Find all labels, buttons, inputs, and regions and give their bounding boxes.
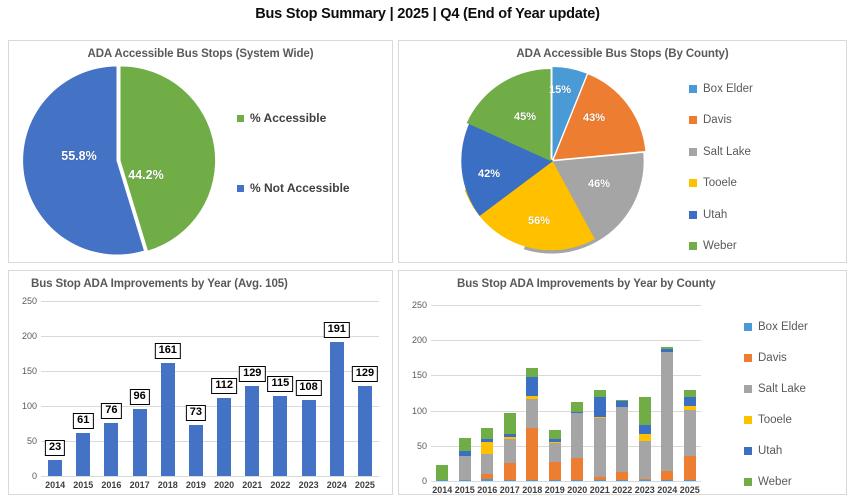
pie-svg-system-wide [21, 63, 216, 258]
panel-improvements-by-county: Bus Stop ADA Improvements by Year by Cou… [398, 270, 847, 495]
gridline [41, 301, 379, 302]
legend-item-davis[interactable]: Davis [689, 105, 753, 137]
stacked-bar-2017[interactable] [504, 305, 516, 481]
legend-swatch-bar-davis [744, 354, 752, 362]
legend-label-bar-weber: Weber [758, 476, 792, 488]
dashboard-title: Bus Stop Summary | 2025 | Q4 (End of Yea… [0, 6, 855, 22]
stack-segment-weber[interactable] [639, 397, 651, 426]
stacked-bar-2019[interactable] [549, 305, 561, 481]
x-axis-tick-label-2025: 2025 [674, 485, 706, 495]
chart-title-improvements-by-year: Bus Stop ADA Improvements by Year (Avg. … [9, 278, 414, 290]
legend-swatch-davis [689, 116, 697, 124]
stack-segment-salt-lake[interactable] [459, 456, 471, 480]
stack-segment-tooele[interactable] [594, 417, 606, 418]
y-axis-tick-label: 150 [402, 370, 427, 380]
legend-swatch-bar-salt-lake [744, 385, 752, 393]
stack-segment-tooele[interactable] [504, 437, 516, 440]
stack-segment-weber[interactable] [504, 413, 516, 433]
stack-segment-salt-lake[interactable] [504, 439, 516, 463]
bar-2014[interactable] [48, 460, 62, 476]
pie-label-box-elder: 15% [549, 84, 571, 96]
legend-item-salt-lake[interactable]: Salt Lake [689, 136, 753, 168]
bar-data-label-2020: 112 [211, 378, 237, 394]
stack-segment-utah[interactable] [616, 401, 628, 407]
legend-label-not-accessible: % Not Accessible [250, 181, 350, 195]
stack-segment-salt-lake[interactable] [549, 443, 561, 462]
stack-segment-utah[interactable] [639, 425, 651, 433]
bar-data-label-2024: 191 [324, 322, 350, 338]
stack-segment-box-elder[interactable] [616, 480, 628, 481]
stack-segment-davis[interactable] [549, 462, 561, 480]
legend-item-not-accessible[interactable]: % Not Accessible [237, 181, 350, 195]
bar-2024[interactable] [330, 342, 344, 476]
stack-segment-utah[interactable] [684, 397, 696, 406]
stack-segment-utah[interactable] [504, 434, 516, 437]
y-axis-tick-label: 0 [11, 471, 37, 481]
legend-swatch-bar-box-elder [744, 323, 752, 331]
stack-segment-davis[interactable] [526, 428, 538, 480]
stacked-bar-2016[interactable] [481, 305, 493, 481]
legend-swatch-weber [689, 242, 697, 250]
stack-segment-weber[interactable] [549, 430, 561, 440]
bar-data-label-2019: 73 [186, 405, 206, 421]
pie-label-not-accessible: 55.8% [61, 149, 96, 163]
y-axis-tick-label: 200 [11, 331, 37, 341]
y-axis-tick-label: 50 [402, 441, 427, 451]
legend-label-bar-salt-lake: Salt Lake [758, 383, 806, 395]
bar-data-label-2016: 76 [101, 403, 121, 419]
pie-label-salt-lake: 46% [588, 178, 610, 190]
legend-swatch-bar-weber [744, 478, 752, 486]
gridline [41, 476, 379, 477]
pie-label-davis: 43% [583, 112, 605, 124]
stack-segment-weber[interactable] [526, 368, 538, 377]
pie-label-tooele: 56% [528, 215, 550, 227]
stacked-bar-2014[interactable] [436, 305, 448, 481]
stack-segment-salt-lake[interactable] [616, 407, 628, 472]
bar-data-label-2021: 129 [239, 366, 265, 382]
stack-segment-tooele[interactable] [549, 442, 561, 443]
bar-2023[interactable] [302, 400, 316, 476]
stack-segment-weber[interactable] [571, 402, 583, 412]
pie-label-utah: 42% [478, 168, 500, 180]
chart-title-ada-by-county: ADA Accessible Bus Stops (By County) [399, 48, 846, 60]
pie-chart-ada-by-county: 15% 43% 46% 56% 42% 45% [457, 65, 647, 255]
legend-item-bar-utah[interactable]: Utah [744, 435, 808, 466]
bar-2018[interactable] [161, 363, 175, 476]
stack-segment-tooele[interactable] [639, 434, 651, 441]
legend-item-accessible[interactable]: % Accessible [237, 111, 350, 125]
y-axis-tick-label: 0 [402, 476, 427, 486]
y-axis-tick-label: 50 [11, 436, 37, 446]
legend-item-bar-tooele[interactable]: Tooele [744, 404, 808, 435]
stack-segment-salt-lake[interactable] [526, 399, 538, 429]
stack-segment-salt-lake[interactable] [571, 413, 583, 458]
legend-improvements-by-county: Box Elder Davis Salt Lake Tooele Utah We… [744, 311, 808, 497]
stack-segment-weber[interactable] [481, 428, 493, 440]
stack-segment-utah[interactable] [526, 377, 538, 396]
stack-segment-weber[interactable] [661, 347, 673, 349]
stack-segment-davis[interactable] [571, 458, 583, 480]
legend-swatch-utah [689, 211, 697, 219]
bar-data-label-2015: 61 [73, 413, 93, 429]
x-axis-tick-label-2025: 2025 [348, 480, 382, 490]
y-axis-tick-label: 200 [402, 335, 427, 345]
stack-segment-weber[interactable] [459, 438, 471, 451]
gridline [41, 371, 379, 372]
stacked-bar-2024[interactable] [661, 305, 673, 481]
legend-label-tooele: Tooele [703, 177, 737, 189]
gridline [431, 481, 701, 482]
bar-2019[interactable] [189, 425, 203, 476]
legend-swatch-not-accessible [237, 185, 244, 192]
legend-label-accessible: % Accessible [250, 111, 326, 125]
stack-segment-box-elder[interactable] [481, 479, 493, 481]
stack-segment-salt-lake[interactable] [481, 454, 493, 474]
stack-segment-davis[interactable] [616, 472, 628, 480]
panel-improvements-by-year: Bus Stop ADA Improvements by Year (Avg. … [8, 270, 393, 495]
legend-item-tooele[interactable]: Tooele [689, 168, 753, 200]
pie-label-accessible: 44.2% [128, 168, 163, 182]
stacked-bar-2021[interactable] [594, 305, 606, 481]
plot-area-improvements-by-county: 0501001502002502014201520162017201820192… [431, 305, 701, 481]
stack-segment-weber[interactable] [616, 400, 628, 401]
legend-item-box-elder[interactable]: Box Elder [689, 73, 753, 105]
bar-2017[interactable] [133, 409, 147, 476]
stack-segment-box-elder[interactable] [639, 480, 651, 481]
pie-chart-ada-system-wide: 44.2% 55.8% [21, 63, 216, 258]
plot-area-improvements-by-year: 0501001502002502320146120157620169620171… [41, 301, 379, 476]
y-axis-tick-label: 100 [402, 406, 427, 416]
stacked-bar-2023[interactable] [639, 305, 651, 481]
stack-segment-box-elder[interactable] [571, 480, 583, 481]
legend-item-utah[interactable]: Utah [689, 199, 753, 231]
stack-segment-salt-lake[interactable] [684, 410, 696, 456]
stack-segment-davis[interactable] [639, 479, 651, 480]
stack-segment-box-elder[interactable] [549, 480, 561, 481]
legend-label-utah: Utah [703, 209, 727, 221]
stack-segment-salt-lake[interactable] [661, 352, 673, 471]
bar-2015[interactable] [76, 433, 90, 476]
stacked-bar-2022[interactable] [616, 305, 628, 481]
legend-ada-by-county: Box Elder Davis Salt Lake Tooele Utah We… [689, 73, 753, 262]
stack-segment-tooele[interactable] [481, 442, 493, 455]
stack-segment-davis[interactable] [481, 474, 493, 479]
stack-segment-tooele[interactable] [684, 406, 696, 410]
stack-segment-utah[interactable] [661, 349, 673, 353]
panel-ada-system-wide: ADA Accessible Bus Stops (System Wide) 4… [8, 40, 393, 263]
stack-segment-davis[interactable] [661, 471, 673, 480]
bar-2020[interactable] [217, 398, 231, 476]
stack-segment-tooele[interactable] [526, 396, 538, 399]
legend-item-bar-box-elder[interactable]: Box Elder [744, 311, 808, 342]
gridline [41, 441, 379, 442]
y-axis-tick-label: 250 [402, 300, 427, 310]
bar-data-label-2025: 129 [352, 366, 378, 382]
stacked-bar-2025[interactable] [684, 305, 696, 481]
bar-2016[interactable] [104, 423, 118, 476]
legend-swatch-box-elder [689, 85, 697, 93]
stack-segment-utah[interactable] [481, 439, 493, 441]
legend-label-salt-lake: Salt Lake [703, 146, 751, 158]
stacked-bar-2018[interactable] [526, 305, 538, 481]
bar-data-label-2018: 161 [155, 343, 181, 359]
legend-item-bar-salt-lake[interactable]: Salt Lake [744, 373, 808, 404]
bar-2021[interactable] [245, 386, 259, 476]
legend-swatch-bar-tooele [744, 416, 752, 424]
chart-title-improvements-by-county: Bus Stop ADA Improvements by Year by Cou… [399, 278, 855, 290]
legend-swatch-tooele [689, 179, 697, 187]
stack-segment-box-elder[interactable] [684, 480, 696, 481]
legend-label-bar-box-elder: Box Elder [758, 321, 808, 333]
stack-segment-weber[interactable] [594, 390, 606, 396]
bar-data-label-2022: 115 [268, 376, 294, 392]
y-axis-tick-label: 250 [11, 296, 37, 306]
stack-segment-utah[interactable] [459, 451, 471, 457]
stack-segment-davis[interactable] [684, 456, 696, 480]
stack-segment-box-elder[interactable] [526, 480, 538, 481]
stack-segment-weber[interactable] [436, 465, 448, 480]
stacked-bar-2015[interactable] [459, 305, 471, 481]
stack-segment-utah[interactable] [549, 439, 561, 441]
legend-swatch-bar-utah [744, 447, 752, 455]
legend-swatch-salt-lake [689, 148, 697, 156]
panel-ada-by-county: ADA Accessible Bus Stops (By County) 15%… [398, 40, 847, 263]
stack-segment-box-elder[interactable] [436, 480, 448, 481]
stack-segment-weber[interactable] [684, 390, 696, 397]
stack-segment-salt-lake[interactable] [639, 441, 651, 479]
stack-segment-box-elder[interactable] [459, 480, 471, 481]
gridline [41, 406, 379, 407]
stack-segment-box-elder[interactable] [504, 480, 516, 481]
legend-label-box-elder: Box Elder [703, 83, 753, 95]
stack-segment-davis[interactable] [594, 477, 606, 480]
legend-label-bar-tooele: Tooele [758, 414, 792, 426]
stacked-bar-2020[interactable] [571, 305, 583, 481]
y-axis-tick-label: 100 [11, 401, 37, 411]
legend-label-bar-utah: Utah [758, 445, 782, 457]
legend-label-davis: Davis [703, 114, 732, 126]
stack-segment-utah[interactable] [594, 397, 606, 417]
legend-label-bar-davis: Davis [758, 352, 787, 364]
bar-data-label-2023: 108 [295, 380, 321, 396]
stack-segment-salt-lake[interactable] [594, 418, 606, 478]
pie-label-weber: 45% [514, 111, 536, 123]
legend-swatch-accessible [237, 115, 244, 122]
bar-2022[interactable] [273, 396, 287, 477]
bar-data-label-2014: 23 [45, 440, 65, 456]
legend-label-weber: Weber [703, 240, 737, 252]
legend-item-bar-davis[interactable]: Davis [744, 342, 808, 373]
chart-title-ada-system-wide: ADA Accessible Bus Stops (System Wide) [9, 48, 392, 60]
legend-item-bar-weber[interactable]: Weber [744, 466, 808, 497]
legend-ada-system-wide: % Accessible % Not Accessible [237, 111, 350, 195]
y-axis-tick-label: 150 [11, 366, 37, 376]
stack-segment-davis[interactable] [504, 463, 516, 480]
stack-segment-box-elder[interactable] [594, 480, 606, 481]
legend-item-weber[interactable]: Weber [689, 231, 753, 263]
bar-2025[interactable] [358, 386, 372, 476]
stack-segment-box-elder[interactable] [661, 480, 673, 481]
bar-data-label-2017: 96 [129, 389, 149, 405]
stack-segment-utah[interactable] [571, 412, 583, 413]
